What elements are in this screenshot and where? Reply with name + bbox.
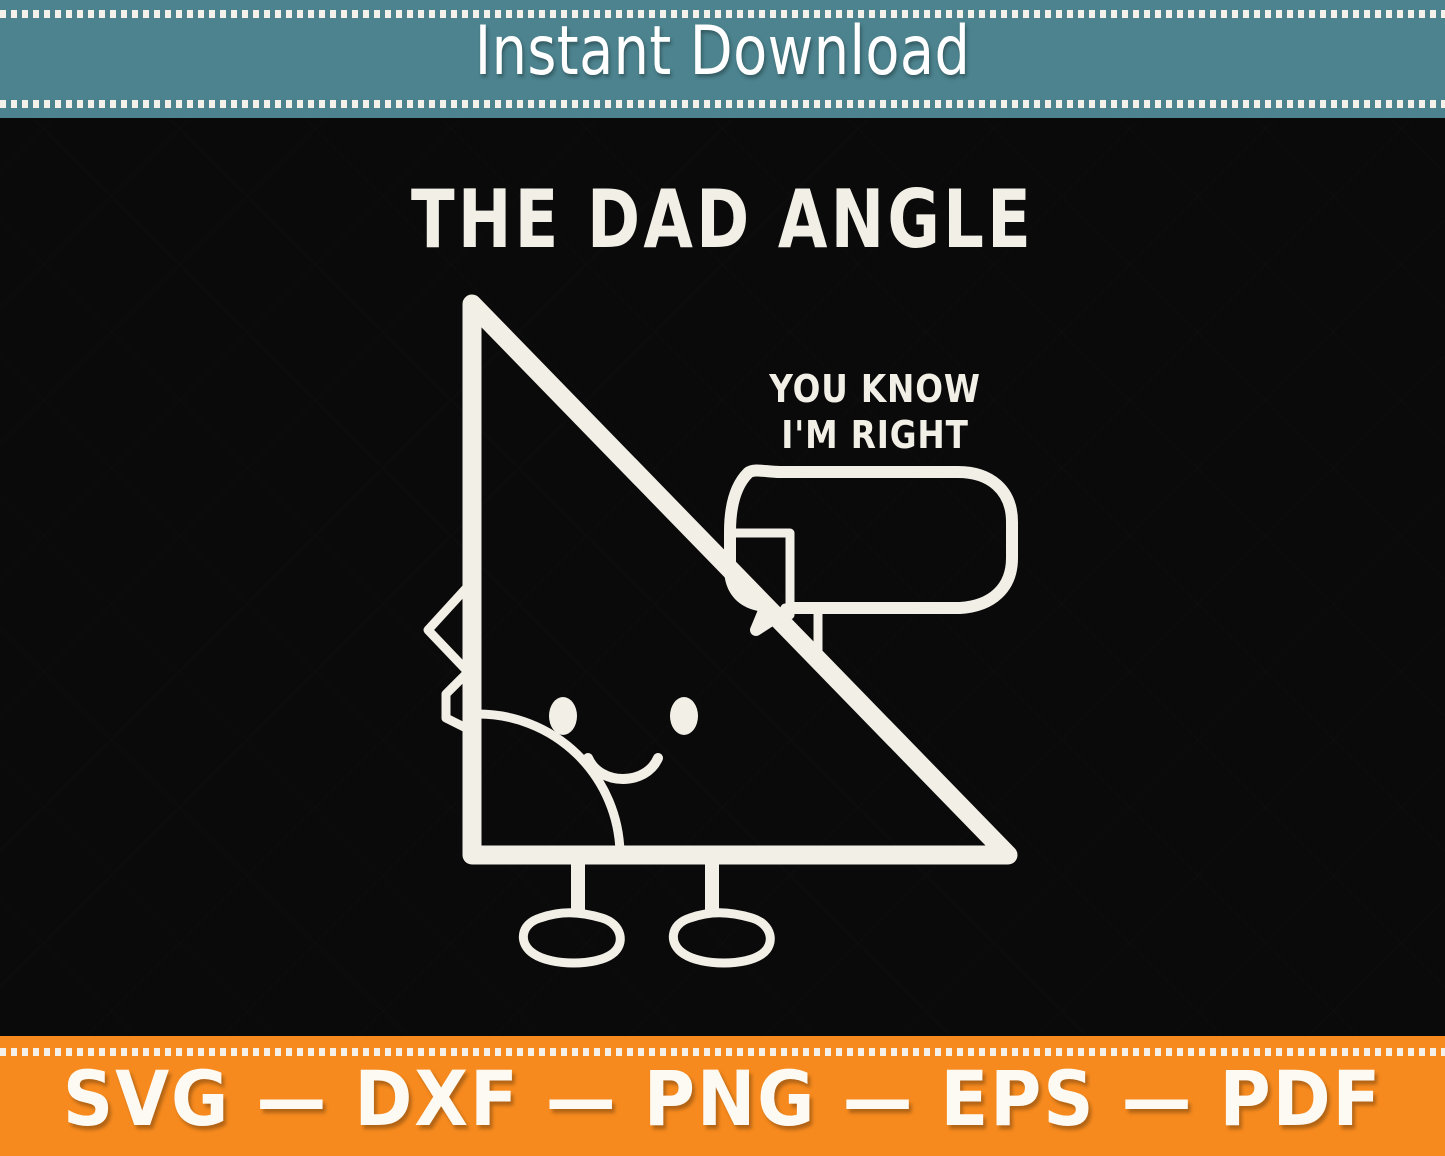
design-artboard: THE DAD ANGLE — [0, 118, 1445, 1036]
file-formats-banner: SVG — DXF — PNG — EPS — PDF — [0, 1036, 1445, 1156]
angle-arc-marker — [478, 714, 620, 852]
left-foot — [523, 913, 620, 963]
file-formats-label: SVG — DXF — PNG — EPS — PDF — [58, 1058, 1387, 1140]
top-banner-dashed-line-lower — [0, 100, 1445, 108]
dad-angle-illustration — [0, 118, 1445, 1036]
right-eye — [670, 697, 698, 735]
speech-bubble-text: YOU KNOW I'M RIGHT — [763, 366, 987, 458]
instant-download-banner: Instant Download — [0, 0, 1445, 118]
speech-bubble-line-1: YOU KNOW — [769, 367, 981, 411]
instant-download-label: Instant Download — [130, 16, 1315, 88]
speech-bubble-line-2: I'M RIGHT — [763, 412, 987, 458]
mouth-smile — [588, 758, 658, 779]
right-foot — [673, 913, 770, 963]
product-listing-image: Instant Download THE DAD ANGLE — [0, 0, 1445, 1156]
left-eye — [549, 697, 577, 735]
